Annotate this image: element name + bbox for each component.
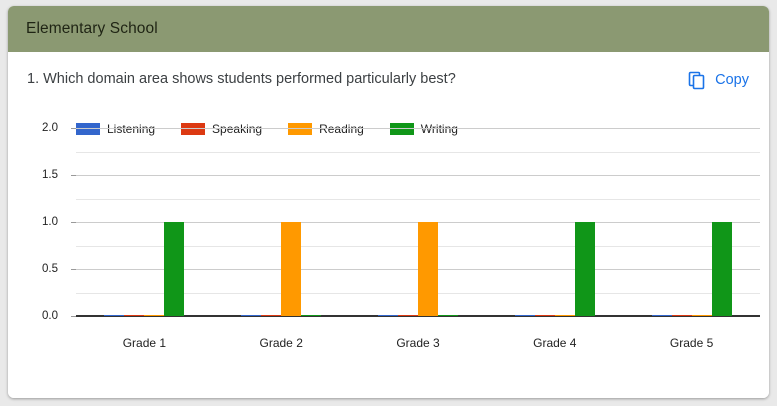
chart-y-tick-label: 1.5 (8, 169, 58, 181)
chart-bar[interactable] (281, 222, 301, 316)
chart-x-tick-label: Grade 5 (670, 336, 713, 350)
card-header-title: Elementary School (26, 20, 158, 38)
question-row: 1. Which domain area shows students perf… (8, 52, 769, 92)
chart-bar[interactable] (261, 315, 281, 316)
chart-bar[interactable] (164, 222, 184, 316)
copy-icon (687, 70, 707, 90)
chart-bar[interactable] (555, 315, 575, 316)
chart-x-tick-label: Grade 1 (123, 336, 166, 350)
chart-y-tick-label: 0.5 (8, 263, 58, 275)
question-text: 1. Which domain area shows students perf… (22, 70, 456, 89)
card-header: Elementary School (8, 6, 769, 52)
copy-button[interactable]: Copy (685, 68, 755, 92)
chart-bar[interactable] (438, 315, 458, 316)
chart-bar[interactable] (241, 315, 261, 316)
chart-bar[interactable] (398, 315, 418, 316)
copy-button-label: Copy (715, 72, 749, 88)
chart-x-tick-label: Grade 2 (260, 336, 303, 350)
chart-x-tick-label: Grade 4 (533, 336, 576, 350)
chart-y-tick-label: 1.0 (8, 216, 58, 228)
chart-y-tick-mark (71, 316, 76, 317)
chart-bar[interactable] (124, 315, 144, 316)
chart-bar-group (623, 128, 760, 316)
chart-bar[interactable] (692, 315, 712, 316)
chart-bar[interactable] (672, 315, 692, 316)
chart-x-tick-label: Grade 3 (396, 336, 439, 350)
chart-bar-group (213, 128, 350, 316)
chart-y-tick-label: 2.0 (8, 122, 58, 134)
chart-bar[interactable] (575, 222, 595, 316)
chart-bar[interactable] (301, 315, 321, 316)
chart-bar-group (350, 128, 487, 316)
chart-plot-area: 0.00.51.01.52.0Grade 1Grade 2Grade 3Grad… (76, 128, 760, 316)
chart-bar[interactable] (535, 315, 555, 316)
chart-y-tick-label: 0.0 (8, 310, 58, 322)
chart-bar[interactable] (652, 315, 672, 316)
chart-bar[interactable] (712, 222, 732, 316)
chart-bar[interactable] (144, 315, 164, 316)
chart-bar[interactable] (418, 222, 438, 316)
card-body: 1. Which domain area shows students perf… (8, 52, 769, 398)
chart-bar[interactable] (104, 315, 124, 316)
chart-bar[interactable] (378, 315, 398, 316)
chart-bar[interactable] (515, 315, 535, 316)
screen: Elementary School 1. Which domain area s… (0, 0, 777, 406)
school-report-card: Elementary School 1. Which domain area s… (8, 6, 769, 398)
grades-bar-chart: ListeningSpeakingReadingWriting 0.00.51.… (8, 114, 769, 398)
chart-bar-group (486, 128, 623, 316)
chart-bar-group (76, 128, 213, 316)
